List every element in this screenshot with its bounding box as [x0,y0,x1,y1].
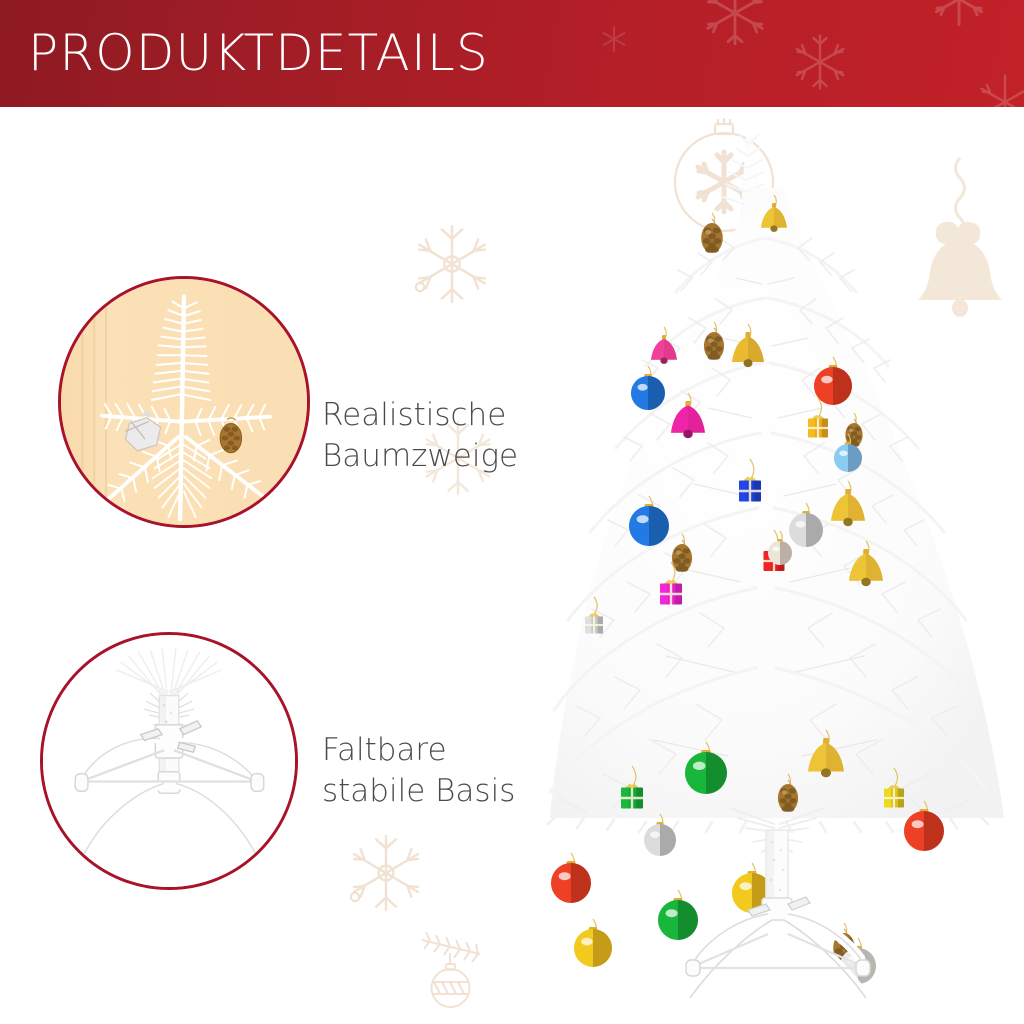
ball-ornament [551,853,591,903]
callout-circle-branches[interactable] [58,276,310,528]
tree-stand [686,808,870,998]
banner-snowflake-icon [930,0,988,28]
ball-ornament [631,366,665,410]
dot-watermark-upper [414,281,426,293]
ball-ornament [644,814,676,856]
product-detail-page: PRODUKTDETAILS [0,0,1024,1024]
product-tree-image [536,128,1016,998]
bell-ornament [651,327,677,364]
snowflake-watermark-upper [410,222,494,306]
banner-snowflake-icon [790,32,850,92]
dot-watermark-lower [349,891,361,903]
snowflake-watermark-lower [345,832,427,914]
ball-ornament [574,919,612,967]
callout-label-base: Faltbare stabile Basis [322,730,515,812]
callout-label-branches: Realistische Baumzweige [322,395,518,477]
ball-ornament [658,890,698,940]
pinecone-ornament [701,213,723,253]
banner-snowflake-icon [700,0,770,48]
header-banner: PRODUKTDETAILS [0,0,1024,107]
page-title: PRODUKTDETAILS [28,23,489,81]
callout-circle-base[interactable] [40,632,298,890]
bauble-branch-watermark [418,928,504,1008]
banner-snowflake-icon [600,25,628,53]
banner-snowflake-icon [975,72,1024,107]
